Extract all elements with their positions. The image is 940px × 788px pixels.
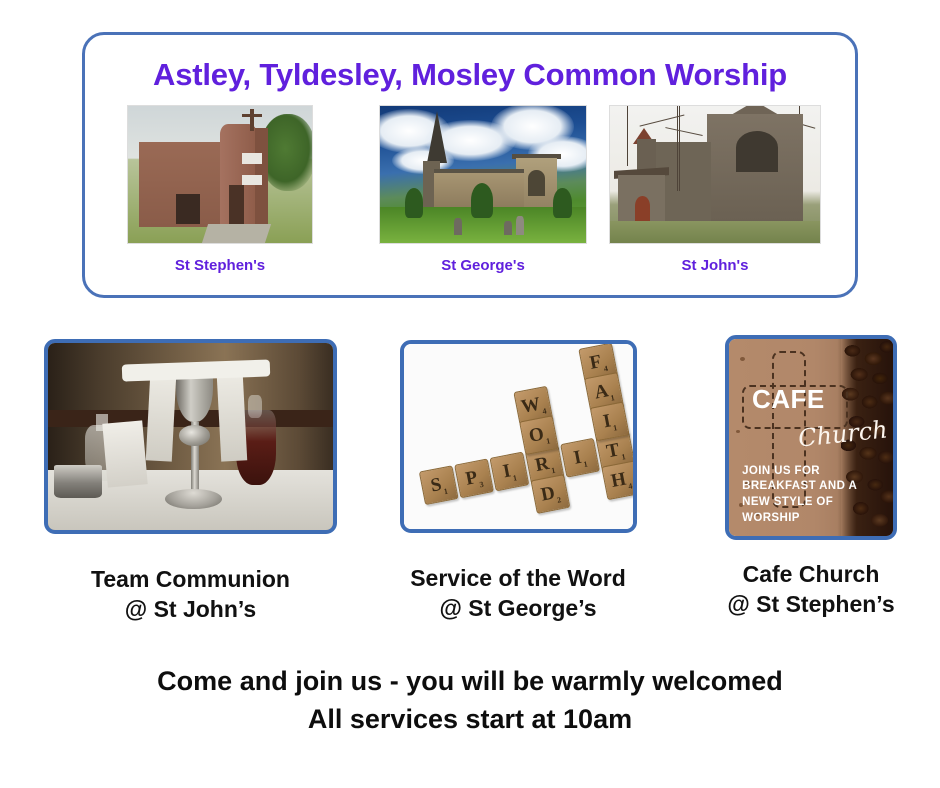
cross-icon (250, 109, 254, 131)
scrabble-tile-letter: I (601, 410, 612, 433)
tree-shape (260, 114, 313, 191)
scrabble-tile-value: 2 (556, 495, 562, 505)
communion-photo (48, 343, 333, 530)
caption-line-2: @ St Stephen’s (681, 589, 940, 619)
service-card-team-communion: Team Communion @ St John’s (44, 339, 337, 625)
scrabble-tile: I1 (489, 451, 529, 491)
linen-cloth-shape (122, 359, 271, 381)
scrabble-tile: P3 (454, 458, 494, 498)
cross-icon (242, 114, 262, 117)
gothic-window-shape (736, 131, 778, 172)
napkin-shape (102, 420, 147, 487)
scrabble-tile-letter: S (428, 473, 443, 497)
shrub-shape (471, 183, 494, 219)
scrabble-tile-letter: R (533, 452, 551, 476)
footer-line-2: All services start at 10am (0, 700, 940, 738)
caption-cafe-church: Cafe Church @ St Stephen’s (681, 559, 940, 620)
church-label-st-stephens: St Stephen's (127, 257, 313, 274)
scrabble-tile-letter: I (501, 460, 512, 483)
scrabble-tile-letter: O (527, 423, 546, 447)
scrabble-tile-letter: I (571, 446, 582, 469)
caption-line-1: Team Communion (44, 564, 337, 594)
scrabble-photo-frame: S1P3I1R1I1T1W4O1D2F4A1I1H4 (400, 340, 637, 533)
gravestone-shape (516, 216, 524, 235)
gravestone-shape (504, 221, 512, 235)
bell-turret-shape (637, 139, 656, 172)
church-item-st-johns: St John's (609, 105, 821, 274)
window-shape (528, 170, 544, 196)
scrabble-tile: H4 (601, 460, 637, 500)
cafe-poster-frame: CAFE Church JOIN US FOR BREAKFAST AND A … (725, 335, 897, 540)
caption-line-2: @ St George’s (373, 593, 663, 623)
window-band-shape (242, 175, 262, 186)
scrabble-tile-group: S1P3I1R1I1T1W4O1D2F4A1I1H4 (401, 343, 636, 530)
door-shape (635, 196, 650, 221)
scrabble-tile-letter: H (609, 468, 628, 492)
church-item-st-stephens: St Stephen's (127, 105, 313, 274)
scrabble-photo: S1P3I1R1I1T1W4O1D2F4A1I1H4 (404, 344, 633, 529)
scrabble-tile: I1 (589, 401, 629, 441)
scrabble-tile: D2 (530, 474, 570, 514)
scrabble-tile: O1 (519, 415, 559, 455)
church-label-st-johns: St John's (609, 257, 821, 274)
service-card-service-of-the-word: S1P3I1R1I1T1W4O1D2F4A1I1H4 Service of th… (400, 340, 637, 624)
door-shape (229, 185, 244, 223)
footer-line-1: Come and join us - you will be warmly we… (0, 662, 940, 700)
communion-photo-frame (44, 339, 337, 534)
scrabble-tile-letter: P (463, 466, 479, 490)
church-photo-st-georges (379, 105, 587, 244)
church-photo-st-johns (609, 105, 821, 244)
branch-shape (640, 114, 685, 126)
scrabble-tile-letter: W (519, 393, 542, 418)
scrabble-tile-value: 1 (582, 459, 588, 469)
worship-panel: Astley, Tyldesley, Mosley Common Worship… (82, 32, 858, 298)
caption-line-2: @ St John’s (44, 594, 337, 624)
caption-line-1: Service of the Word (373, 563, 663, 593)
caption-team-communion: Team Communion @ St John’s (44, 564, 337, 625)
window-band-shape (242, 153, 262, 164)
footer-message: Come and join us - you will be warmly we… (0, 662, 940, 739)
scrabble-tile: S1 (418, 465, 458, 505)
linen-drape-shape (146, 374, 176, 461)
branch-shape (665, 127, 702, 136)
scrabble-tile-letter: T (604, 439, 621, 463)
grass-shape (610, 221, 820, 243)
shrub-shape (405, 188, 424, 218)
scrabble-tile: I1 (560, 437, 600, 477)
church-list: St Stephen's (85, 105, 855, 285)
caption-line-1: Cafe Church (681, 559, 940, 589)
poster-subtitle: JOIN US FOR BREAKFAST AND A NEW STYLE OF… (742, 464, 860, 527)
path-shape (202, 224, 271, 243)
door-shape (176, 194, 200, 224)
church-photo-st-stephens (127, 105, 313, 244)
bare-tree-shape (627, 106, 628, 166)
linen-drape-shape (217, 374, 247, 461)
shrub-shape (553, 188, 572, 218)
service-card-cafe-church: CAFE Church JOIN US FOR BREAKFAST AND A … (725, 335, 897, 620)
caption-service-of-the-word: Service of the Word @ St George’s (373, 563, 663, 624)
scrabble-tile-letter: F (587, 351, 603, 375)
church-label-st-georges: St George's (379, 257, 587, 274)
spire-shape (427, 111, 447, 163)
church-item-st-georges: St George's (379, 105, 587, 274)
scrabble-tile-letter: D (539, 482, 557, 506)
scrabble-tile-value: 4 (603, 363, 609, 373)
poster-title: CAFE (752, 384, 825, 415)
coffee-speck-shape (736, 430, 740, 433)
cafe-church-poster: CAFE Church JOIN US FOR BREAKFAST AND A … (729, 339, 893, 536)
chalice-knop-shape (179, 425, 210, 446)
gravestone-shape (454, 218, 462, 234)
scrabble-tile-letter: A (592, 380, 610, 404)
silver-bowl-shape (54, 465, 102, 499)
page-title: Astley, Tyldesley, Mosley Common Worship (85, 57, 855, 93)
scrabble-tile-value: 1 (609, 393, 615, 403)
bare-tree-shape (677, 106, 678, 191)
